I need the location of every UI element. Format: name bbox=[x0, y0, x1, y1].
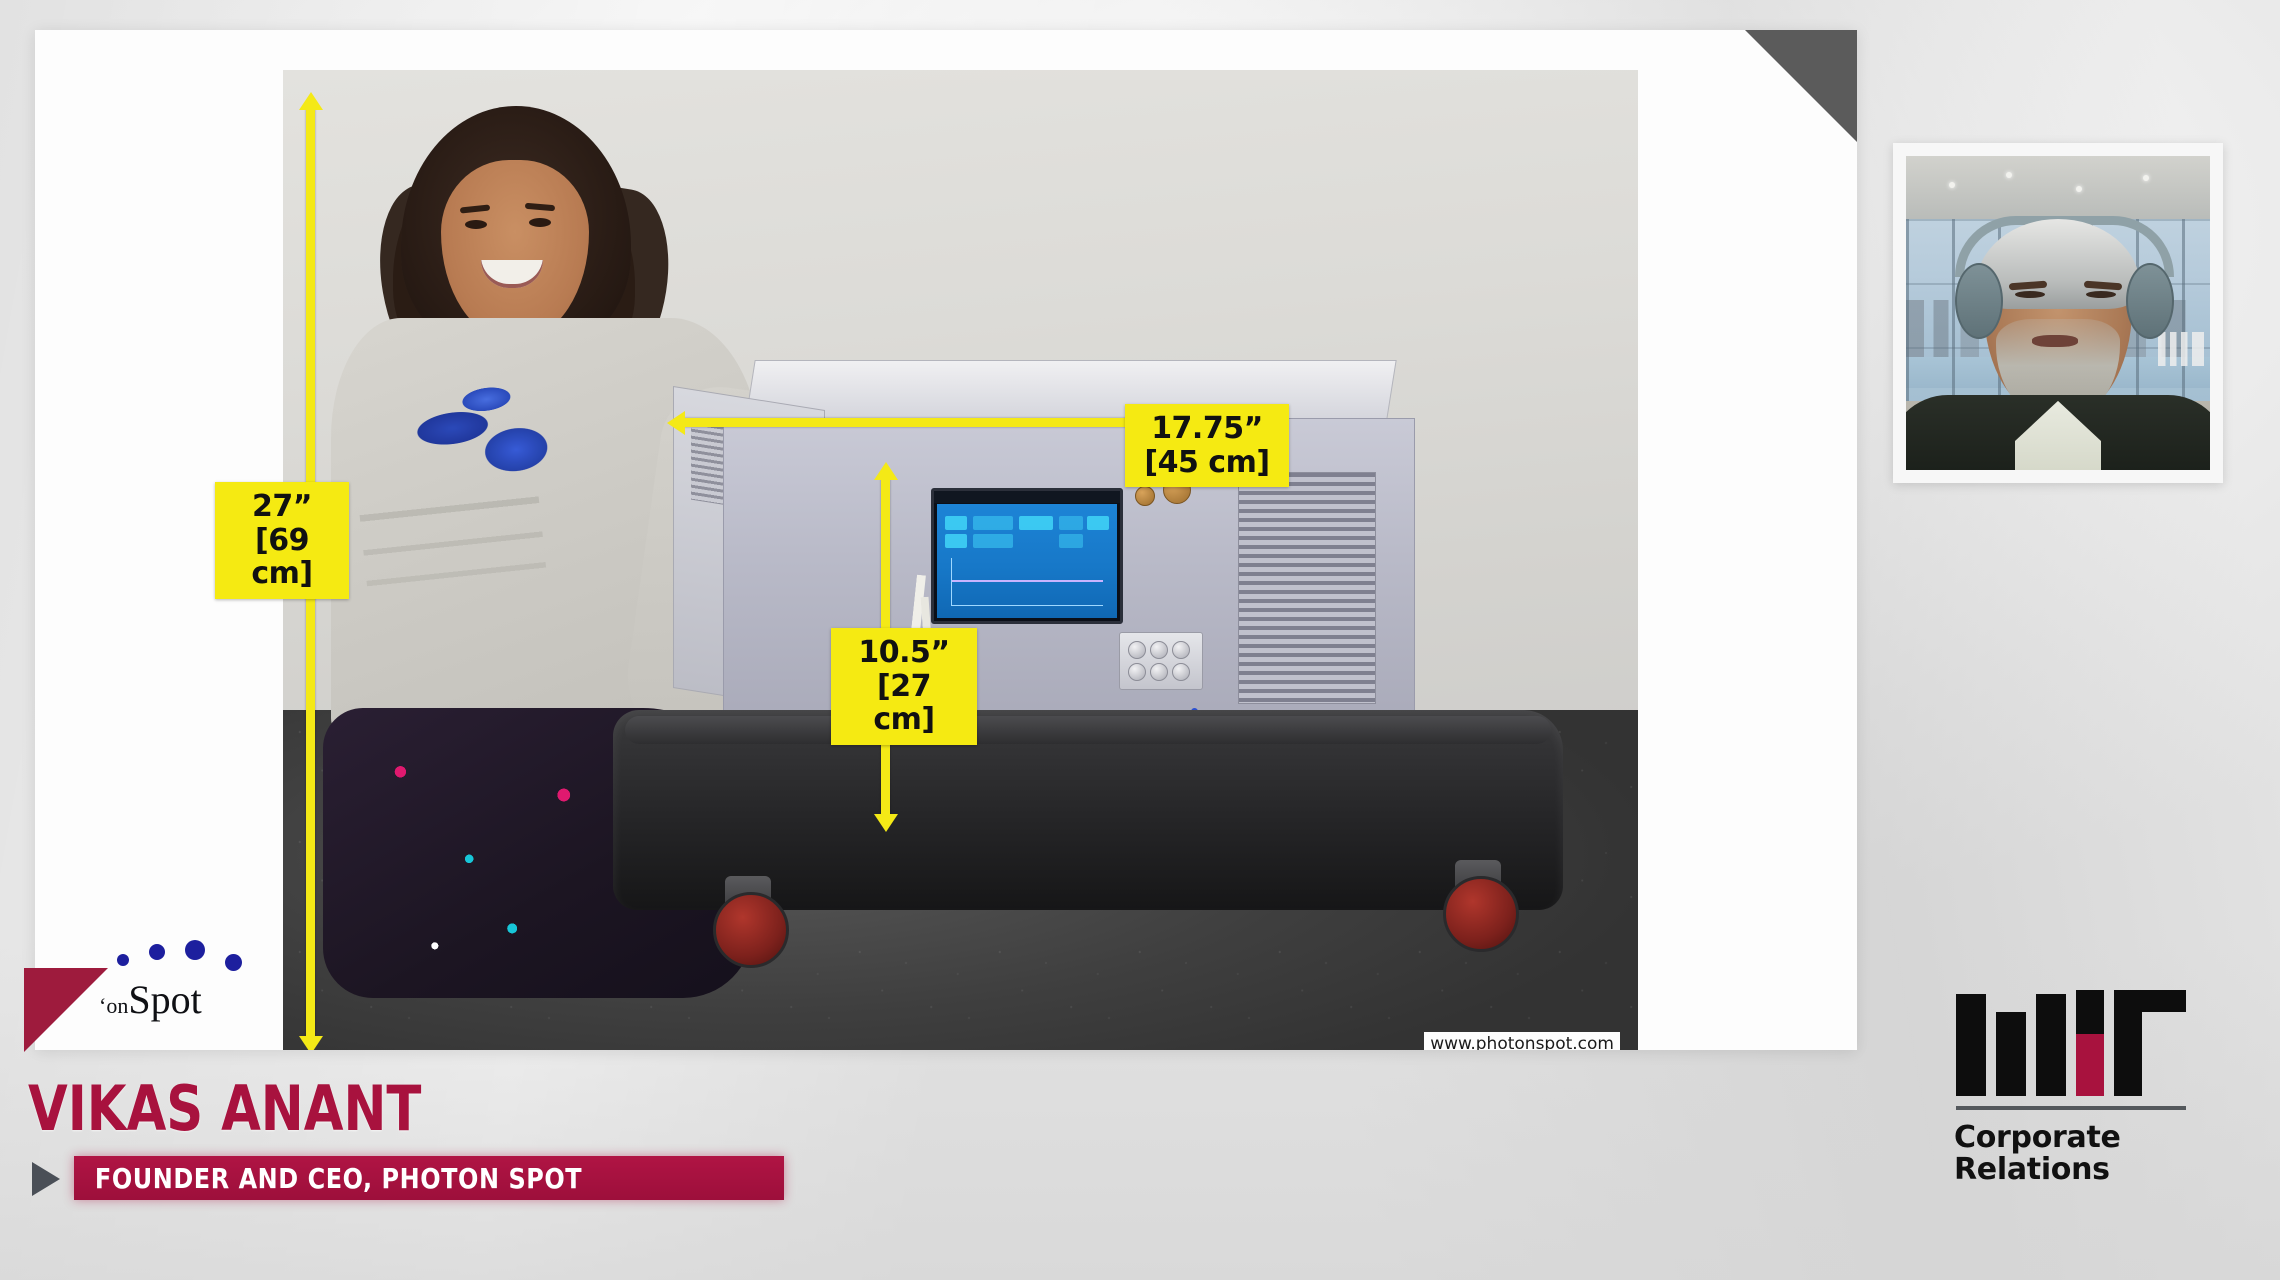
child-eye-left bbox=[465, 220, 487, 229]
device-lcd-touchscreen[interactable] bbox=[931, 488, 1123, 624]
device-port bbox=[1150, 663, 1168, 681]
footer-logo-word2: Spot bbox=[128, 977, 201, 1022]
device-port bbox=[1172, 663, 1190, 681]
dimension-metric: [27 cm] bbox=[843, 670, 965, 737]
device-port bbox=[1128, 663, 1146, 681]
dimension-inches: 10.5” bbox=[843, 636, 965, 670]
cart-caster-wheel bbox=[705, 876, 791, 968]
mit-bar-1 bbox=[1956, 994, 1986, 1096]
cart-caster-wheel bbox=[1435, 860, 1521, 952]
slide-corner-triangle-decoration bbox=[1745, 30, 1857, 142]
device-port bbox=[1150, 641, 1168, 659]
sweatshirt-text-graphic bbox=[358, 479, 549, 607]
mit-wordmark-line2: Relations bbox=[1954, 1154, 2121, 1186]
lcd-button bbox=[945, 534, 967, 548]
dimension-label-width: 17.75” [45 cm] bbox=[1125, 404, 1289, 487]
speaker-mouth bbox=[2032, 335, 2078, 347]
lcd-readout bbox=[973, 516, 1013, 530]
speaker-title: FOUNDER AND CEO, PHOTON SPOT bbox=[74, 1162, 582, 1195]
mit-logo-bars bbox=[1952, 990, 2217, 1096]
crimson-corner-triangle bbox=[24, 968, 108, 1052]
speaker-eye-right bbox=[2086, 291, 2116, 298]
dimension-inches: 27” bbox=[227, 490, 337, 524]
child-eye-right bbox=[529, 218, 551, 227]
mit-bar-t-top bbox=[2114, 990, 2186, 1012]
mit-bar-3 bbox=[2036, 994, 2066, 1096]
device-connector-knob bbox=[1135, 486, 1155, 506]
lcd-readout bbox=[973, 534, 1013, 548]
caster-wheel bbox=[713, 892, 789, 968]
mit-corporate-relations-logo: Corporate Relations bbox=[1952, 990, 2217, 1220]
mit-wordmark-line1: Corporate bbox=[1954, 1122, 2121, 1154]
headphone-earcup-right bbox=[2126, 263, 2174, 339]
dimension-metric: [45 cm] bbox=[1137, 446, 1277, 480]
dimension-label-height: 27” [69 cm] bbox=[215, 482, 349, 599]
lcd-button bbox=[1087, 516, 1109, 530]
slide-photonspot-wordmark: ‘onSpot bbox=[99, 976, 202, 1023]
speaker-webcam-tile[interactable] bbox=[1893, 143, 2223, 483]
lcd-temperature-graph bbox=[951, 558, 1103, 606]
device-port bbox=[1172, 641, 1190, 659]
dimension-inches: 17.75” bbox=[1137, 412, 1277, 446]
product-photo: Photon Spot HOT SPOT X 0.8K COMPACT CRYO bbox=[283, 70, 1638, 1050]
headphone-earcup-left bbox=[1955, 263, 2003, 339]
device-port bbox=[1128, 641, 1146, 659]
photo-website-url: www.photonspot.com bbox=[1424, 1032, 1620, 1050]
speaker-title-row: FOUNDER AND CEO, PHOTON SPOT bbox=[28, 1156, 1128, 1202]
webcam-bg-mit-logo bbox=[2158, 332, 2204, 366]
speaker-title-banner: FOUNDER AND CEO, PHOTON SPOT bbox=[74, 1156, 784, 1200]
play-triangle-icon bbox=[32, 1162, 60, 1196]
lcd-readout bbox=[1059, 534, 1083, 548]
caster-wheel bbox=[1443, 876, 1519, 952]
mit-bar-crimson bbox=[2076, 1034, 2104, 1096]
mit-logo-wordmark: Corporate Relations bbox=[1954, 1122, 2121, 1186]
dimension-label-depth: 10.5” [27 cm] bbox=[831, 628, 977, 745]
lcd-button bbox=[1019, 516, 1053, 530]
lcd-control-interface bbox=[937, 504, 1117, 618]
webcam-bg-ceiling bbox=[1906, 156, 2210, 219]
lcd-titlebar bbox=[934, 491, 1120, 503]
device-port-block bbox=[1119, 632, 1203, 690]
device-front-vent-grille bbox=[1238, 472, 1376, 704]
webcam-video-feed bbox=[1906, 156, 2210, 470]
lcd-readout bbox=[1059, 516, 1083, 530]
speaker-name: VIKAS ANANT bbox=[28, 1078, 1040, 1140]
slide-photonspot-logo: ‘onSpot bbox=[91, 932, 291, 1022]
cart-rim bbox=[625, 716, 1551, 744]
lcd-button bbox=[945, 516, 967, 530]
mit-bar-2 bbox=[1996, 1012, 2026, 1096]
mit-logo-divider bbox=[1956, 1106, 2186, 1110]
dimension-metric: [69 cm] bbox=[227, 524, 337, 591]
presentation-slide: Compact 0.8K Cryogenic System bbox=[35, 30, 1857, 1050]
lower-third-overlay: VIKAS ANANT FOUNDER AND CEO, PHOTON SPOT bbox=[28, 1078, 1128, 1278]
